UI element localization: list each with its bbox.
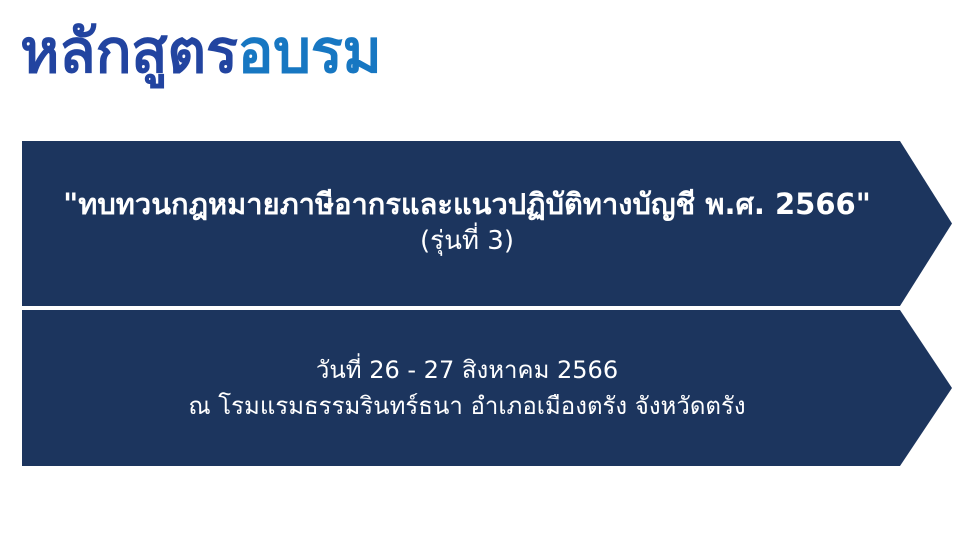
course-date-text: วันที่ 26 - 27 สิงหาคม 2566 bbox=[316, 352, 618, 388]
page-title: หลักสูตรอบรม bbox=[20, 18, 381, 87]
course-batch-text: (รุ่นที่ 3) bbox=[420, 223, 514, 261]
course-details-banner: วันที่ 26 - 27 สิงหาคม 2566 ณ โรมแรมธรรม… bbox=[22, 310, 952, 466]
course-title-banner: "ทบทวนกฎหมายภาษีอากรและแนวปฏิบัติทางบัญช… bbox=[22, 141, 952, 306]
course-venue-text: ณ โรมแรมธรรมรินทร์ธนา อำเภอเมืองตรัง จัง… bbox=[188, 388, 745, 424]
course-name-text: "ทบทวนกฎหมายภาษีอากรและแนวปฏิบัติทางบัญช… bbox=[63, 186, 871, 223]
page-title-segment-secondary: อบรม bbox=[237, 17, 381, 87]
banner-stack: "ทบทวนกฎหมายภาษีอากรและแนวปฏิบัติทางบัญช… bbox=[22, 141, 952, 466]
page-title-segment-primary: หลักสูตร bbox=[20, 17, 237, 87]
